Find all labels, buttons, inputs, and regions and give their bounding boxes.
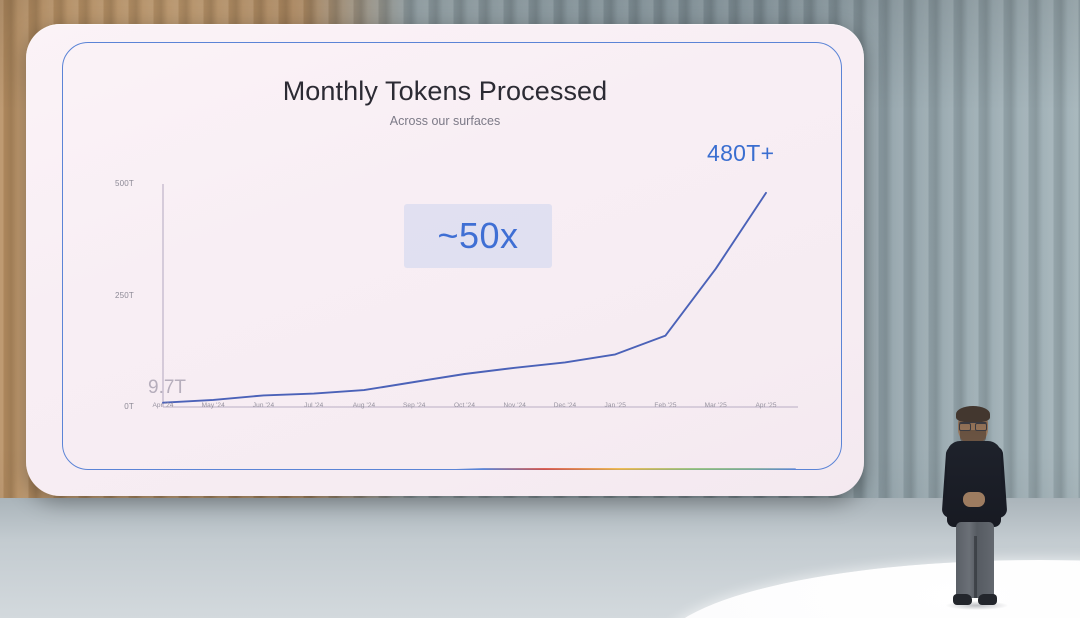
x-axis-tick-label: Nov '24 [493,402,537,409]
x-axis-tick-label: Mar '25 [694,402,738,409]
x-axis-tick-label: Jul '24 [292,402,336,409]
y-axis-tick-label: 250T [26,291,134,300]
x-axis-tick-label: Apr '24 [141,402,185,409]
x-axis-tick-label: Apr '25 [744,402,788,409]
x-axis-tick-label: Jun '24 [242,402,286,409]
y-axis-tick-label: 500T [26,179,134,188]
x-axis-tick-label: Oct '24 [443,402,487,409]
slide-panel: Monthly Tokens Processed Across our surf… [26,24,864,496]
presenter-jacket [947,441,1001,527]
x-axis-tick-label: Aug '24 [342,402,386,409]
presentation-stage-screenshot: Monthly Tokens Processed Across our surf… [0,0,1080,618]
start-value-label: 9.7T [148,377,186,399]
x-axis-tick-label: Sep '24 [392,402,436,409]
x-axis-tick-label: Jan '25 [593,402,637,409]
presenter [930,408,1022,608]
presenter-hair [956,406,990,422]
end-value-label: 480T+ [707,140,774,167]
presenter-left-shoe [953,594,972,605]
presenter-glasses [959,422,987,430]
presenter-leg-seam [974,536,977,598]
y-axis-tick-label: 0T [26,402,134,411]
line-chart: 500T250T0T Apr '24May '24Jun '24Jul '24A… [26,24,864,496]
x-axis-tick-label: Feb '25 [644,402,688,409]
presenter-right-shoe [978,594,997,605]
x-axis-tick-label: Dec '24 [543,402,587,409]
x-axis-tick-label: May '24 [191,402,235,409]
presenter-hands [963,492,985,507]
growth-callout-label: ~50x [404,204,552,268]
